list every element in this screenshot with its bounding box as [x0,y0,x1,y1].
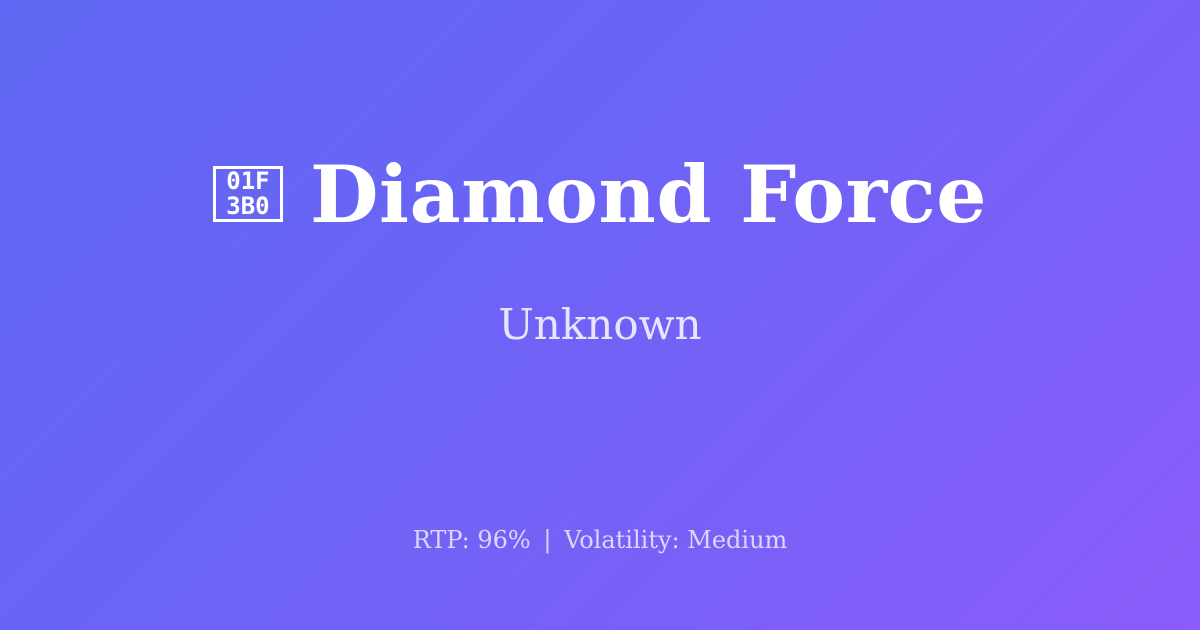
game-subtitle: Unknown [498,234,701,346]
meta-separator: | [538,526,556,554]
slot-machine-emoji-codepoint-low: 3B0 [226,194,269,219]
slot-machine-emoji-icon: 01F 3B0 [213,166,283,222]
slot-machine-emoji-codepoint-high: 01F [226,169,269,194]
volatility-label: Volatility: [564,526,680,554]
game-preview-card: 01F 3B0 Diamond Force Unknown RTP: 96% |… [0,0,1200,630]
game-title: Diamond Force [310,155,987,234]
game-meta-line: RTP: 96% | Volatility: Medium [0,528,1200,552]
volatility-value: Medium [687,526,787,554]
rtp-value: 96% [477,526,530,554]
rtp-label: RTP: [413,526,470,554]
hero-block: 01F 3B0 Diamond Force Unknown [0,0,1200,500]
title-row: 01F 3B0 Diamond Force [213,155,987,234]
